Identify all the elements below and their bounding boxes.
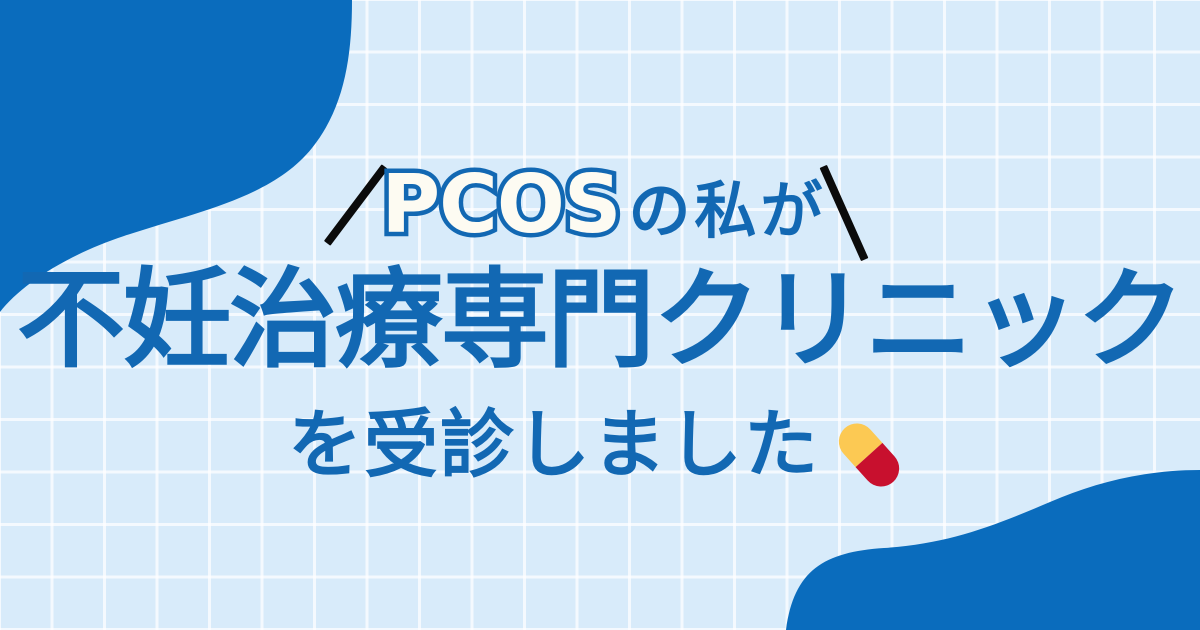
headline-line-1-suffix: の私が [628,180,826,242]
headline-line-2: 不妊治療専門クリニック [17,261,1183,381]
headline-line-3: を受診しました [288,393,912,497]
ogp-banner: PCOS の私が 不妊治療専門クリニック を受診しました [0,0,1200,630]
headline-block: PCOS の私が 不妊治療専門クリニック を受診しました [0,0,1200,630]
pcos-emphasis-text: PCOS [382,165,621,245]
headline-line-3-text: を受診しました [288,408,820,482]
headline-line-1: PCOS の私が [352,159,849,255]
slash-right-icon [820,165,869,261]
slash-left-icon [323,164,387,245]
pill-emoji-icon [826,412,912,498]
headline-line-2-text: 不妊治療専門クリニック [17,267,1183,375]
